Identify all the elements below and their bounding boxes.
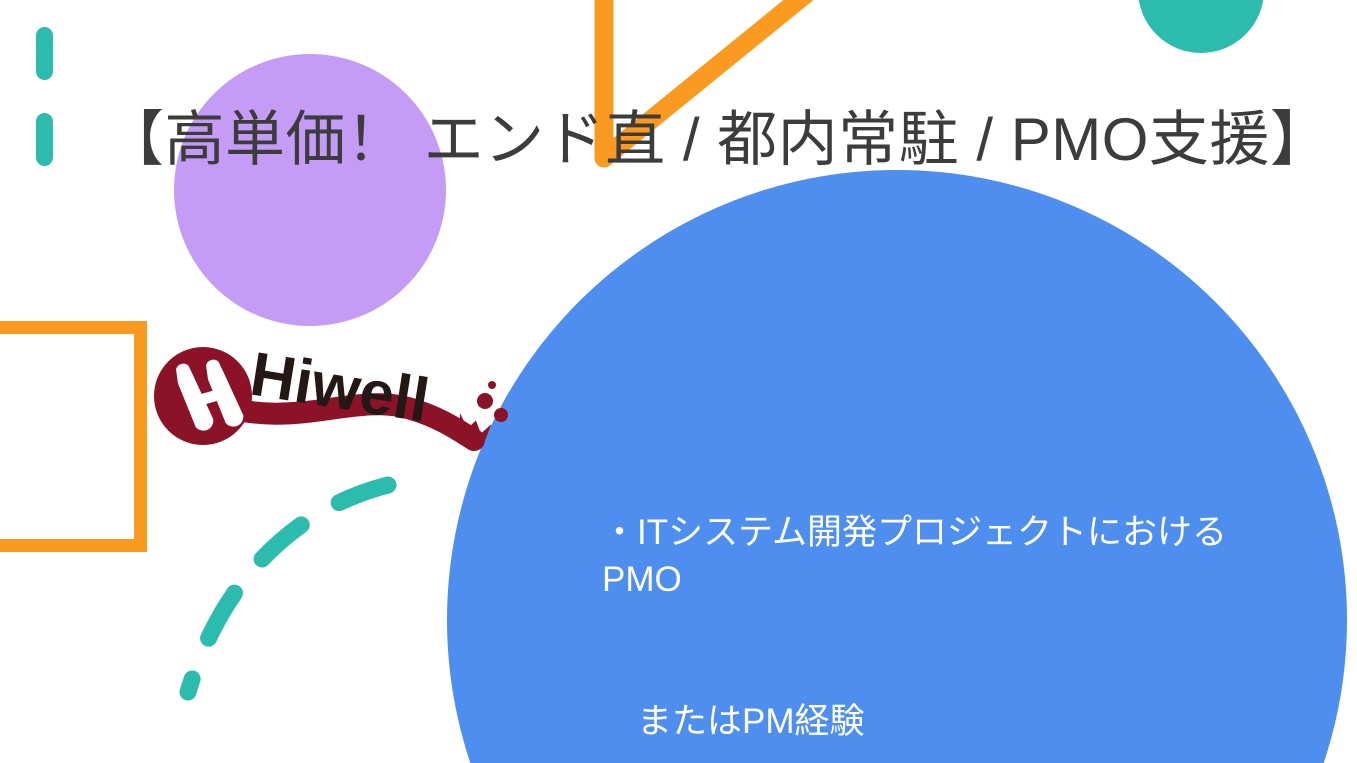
slide-title: 【高単価！ エンド直 / 都内常駐 / PMO支援】	[104, 108, 1254, 173]
teal-dashed-arc-decor	[140, 430, 440, 730]
slide-canvas: Hiwell 【高単価！ エンド直 / 都内常駐 / PMO支援】 ・ITシステ…	[0, 0, 1357, 763]
requirement-line-1: ・ITシステム開発プロジェクトにおけるPMO	[602, 509, 1302, 604]
hiwell-logo: Hiwell	[140, 322, 520, 462]
purple-circle-decor	[174, 54, 446, 326]
hiwell-accent-mark	[455, 381, 508, 450]
teal-dash-second-decor	[36, 113, 53, 166]
orange-square-outline-decor	[0, 321, 147, 552]
teal-circle-top-right-decor	[1138, 0, 1264, 53]
teal-dash-top-decor	[36, 27, 53, 80]
requirement-line-2: またはPM経験	[602, 698, 1302, 745]
requirements-block: ・ITシステム開発プロジェクトにおけるPMO またはPM経験 ・外部ベンダーとの…	[602, 414, 1302, 763]
